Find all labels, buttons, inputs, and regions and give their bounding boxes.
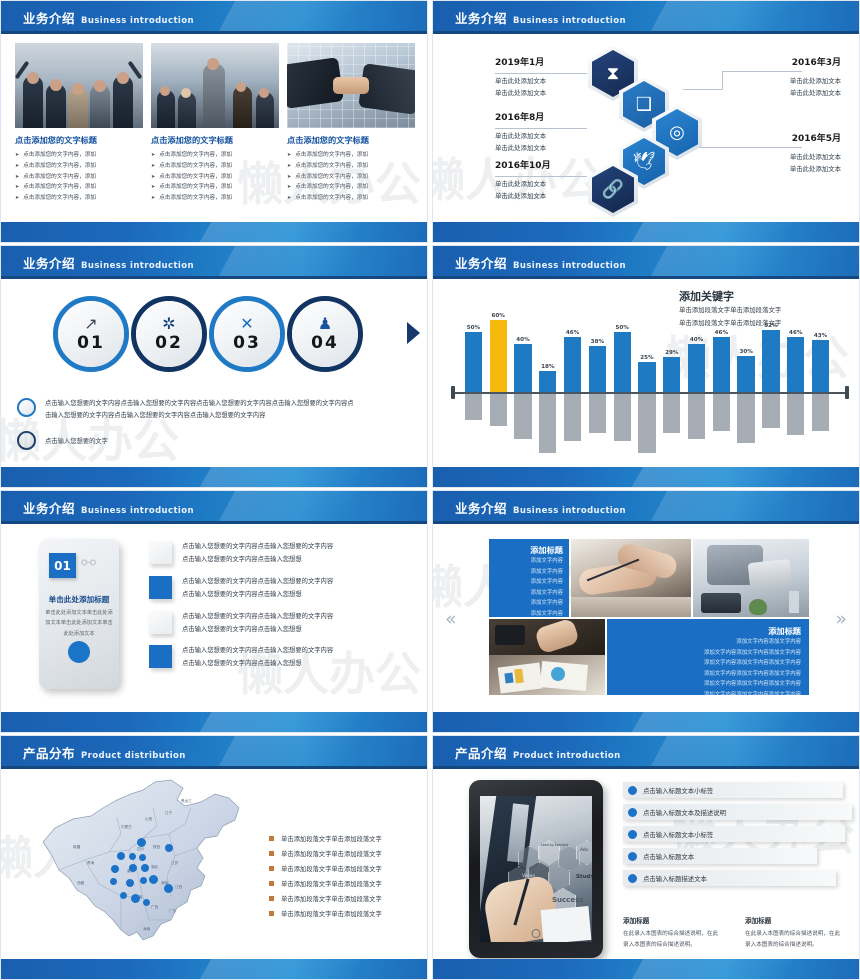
page-title: 业务介绍	[455, 8, 507, 27]
bullet-arrow-icon: ➤	[151, 194, 155, 204]
bar-mirror	[589, 392, 606, 433]
bar-series-container: 50%60%40%18%46%38%50%25%29%40%46%30%52%4…	[461, 308, 833, 461]
bar-positive	[514, 344, 531, 392]
screen-label-adv: Adv	[580, 848, 588, 853]
timeline-entry-left-2[interactable]: 2016年8月 单击此处添加文本 单击此处添加文本	[495, 110, 546, 154]
bar-value-label: 52%	[764, 323, 777, 329]
legend-item: 单击添加段落文字单击添加段落文字	[269, 834, 409, 843]
bar-group[interactable]: 25%	[635, 308, 660, 461]
bullet-arrow-icon: ➤	[151, 162, 155, 172]
page-subtitle: Business introduction	[513, 261, 626, 271]
map-dot	[141, 864, 149, 872]
bullet-text: 点击添加您的文字内容，添加	[159, 162, 232, 172]
svg-text:辽宁: 辽宁	[165, 810, 173, 815]
bar-value-label: 25%	[640, 355, 653, 361]
card-dot[interactable]	[68, 641, 90, 663]
team-celebration-photo	[15, 43, 143, 128]
bar-positive	[539, 371, 556, 393]
map-dot	[165, 844, 173, 852]
photo-column: 点击添加您的文字标题 ➤点击添加您的文字内容，添加 ➤点击添加您的文字内容，添加…	[287, 43, 415, 205]
mosaic-text-box-b[interactable]: 添加标题 添加文字内容添加文字内容 添加文字内容添加文字内容添加文字内容 添加文…	[607, 619, 809, 695]
gear-icon: ✲	[162, 316, 175, 332]
bar-positive	[564, 337, 581, 392]
footer-title: 添加标题	[745, 915, 843, 925]
legend-text: 单击添加段落文字单击添加段落文字	[281, 834, 382, 843]
bar-value-label: 40%	[690, 337, 703, 343]
screen-label-study: Study	[576, 874, 592, 880]
timeline-line: 单击此处添加文本	[495, 142, 546, 154]
bar-mirror	[539, 392, 556, 453]
bar-group[interactable]: 50%	[461, 308, 486, 461]
map-dot	[137, 838, 146, 847]
step-row: ↗ 01 ✲ 02 ✕ 03	[53, 290, 427, 382]
bar-positive	[465, 332, 482, 392]
pill-item[interactable]: 点击输入标题文本小标签	[623, 782, 843, 798]
timeline-date: 2016年5月	[790, 131, 841, 144]
timeline-date: 2019年1月	[495, 55, 546, 68]
bar-group[interactable]: 38%	[585, 308, 610, 461]
tablet-device: Success Study Adv Vision Lead by Example	[469, 780, 603, 958]
footer-column: 添加标题 在此录入本图表的综合描述说明，在此录入本图表的综合描述说明。	[623, 915, 721, 951]
pill-list: 点击输入标题文本小标签 点击输入标题文本及描述说明 点击输入标题文本小标签 点击…	[623, 782, 843, 892]
page-subtitle: Product distribution	[81, 751, 186, 761]
slide-steps: 业务介绍 Business introduction 懒人办公 ↗ 01	[0, 245, 428, 488]
bullet-arrow-icon: ➤	[15, 151, 19, 161]
bar-mirror	[737, 392, 754, 443]
legend-item: 单击添加段落文字单击添加段落文字	[269, 864, 409, 873]
timeline-line: 单击此处添加文本	[790, 75, 841, 87]
timeline-line: 单击此处添加文本	[495, 190, 551, 202]
bar-group[interactable]: 29%	[659, 308, 684, 461]
note-bullet-circle	[17, 431, 36, 450]
slide-card: 业务介绍 Business introduction 懒人办公 01 ⚯ 单击此…	[0, 490, 428, 733]
bullet-arrow-icon: ➤	[287, 194, 291, 204]
timeline-date: 2016年10月	[495, 158, 551, 171]
legend-text: 单击添加段落文字单击添加段落文字	[281, 879, 382, 888]
step-number: 02	[155, 333, 183, 353]
slide-body: 懒人办公 « » 添加标题 添加文字内容 添加文字内容 添加文字内容 添加文字内…	[433, 527, 859, 710]
page-title: 业务介绍	[23, 8, 75, 27]
svg-text:西藏: 西藏	[77, 880, 85, 885]
list-item[interactable]: 点击输入您想要的文字内容点击输入您想要的文字内容 点击输入您想要的文字内容点击输…	[149, 576, 419, 602]
bar-group[interactable]: 40%	[684, 308, 709, 461]
svg-text:山西: 山西	[145, 816, 153, 821]
bar-group[interactable]: 46%	[783, 308, 808, 461]
legend-bullet-icon	[269, 911, 274, 916]
page-subtitle: Business introduction	[81, 506, 194, 516]
china-map-svg: 新疆青海西藏 内蒙古山西辽宁 黑龙江四川陕西 湖北江苏湖南 江西云南广西 广东海…	[25, 772, 275, 960]
bar-mirror	[465, 392, 482, 420]
chart-title: 添加关键字	[679, 288, 845, 304]
list-line: 点击输入您想要的文字内容点击输入您想想	[182, 658, 333, 671]
shuffle-icon: ✕	[240, 316, 253, 332]
bar-value-label: 50%	[467, 325, 480, 331]
bullet-arrow-icon: ➤	[15, 194, 19, 204]
legend-item: 单击添加段落文字单击添加段落文字	[269, 879, 409, 888]
bar-mirror	[663, 392, 680, 433]
photo-column: 点击添加您的文字标题 ➤点击添加您的文字内容，添加 ➤点击添加您的文字内容，添加…	[15, 43, 143, 205]
svg-text:四川: 四川	[137, 847, 145, 851]
network-nodes-icon: ⚯	[81, 555, 107, 579]
bar-mirror	[688, 392, 705, 439]
pill-item[interactable]: 点击输入标题文本及描述说明	[623, 804, 852, 820]
bar-value-label: 43%	[814, 333, 827, 339]
timeline-entry-left-3[interactable]: 2016年10月 单击此处添加文本 单击此处添加文本	[495, 158, 551, 202]
list-line: 点击输入您想要的文字内容点击输入您想要的文字内容	[182, 611, 333, 624]
svg-text:江西: 江西	[175, 884, 183, 889]
bar-positive	[490, 320, 507, 392]
slide-footer	[433, 467, 859, 487]
mosaic-text-box-a[interactable]: 添加标题 添加文字内容 添加文字内容 添加文字内容 添加文字内容 添加文字内容 …	[489, 539, 569, 617]
slide-header: 业务介绍 Business introduction	[433, 246, 859, 279]
step-number: 03	[233, 333, 261, 353]
slide-header: 产品分布 Product distribution	[1, 736, 427, 769]
slide-body: 懒人办公	[1, 772, 427, 957]
bar-value-label: 18%	[541, 364, 554, 370]
tablet-home-button[interactable]	[532, 929, 541, 938]
bullet-text: 点击添加您的文字内容，添加	[295, 162, 368, 172]
map-dot	[131, 894, 140, 903]
slide-footer	[433, 222, 859, 242]
bullet-arrow-icon: ➤	[15, 183, 19, 193]
screen-label-vision: Vision	[522, 874, 535, 879]
legend-text: 单击添加段落文字单击添加段落文字	[281, 864, 382, 873]
map-dot	[164, 884, 173, 893]
svg-text:黑龙江: 黑龙江	[181, 798, 192, 803]
next-chevron-icon[interactable]: »	[835, 608, 847, 630]
footer-desc: 在此录入本图表的综合描述说明，在此录入本图表的综合描述说明。	[623, 929, 721, 951]
prev-chevron-icon[interactable]: «	[445, 608, 457, 630]
slide-header: 业务介绍 Business introduction	[1, 1, 427, 34]
charts-desk-photo	[489, 619, 605, 695]
bullet-arrow-icon: ➤	[287, 173, 291, 183]
pill-text: 点击输入标题描述文本	[643, 874, 707, 883]
bar-value-label: 46%	[566, 330, 579, 336]
step-number: 01	[77, 333, 105, 353]
timeline-line: 单击此处添加文本	[495, 75, 546, 87]
list-line: 点击输入您想要的文字内容点击输入您想要的文字内容	[182, 576, 333, 589]
bar-positive	[688, 344, 705, 392]
box-line: 添加文字内容添加文字内容	[615, 637, 801, 648]
legend-text: 单击添加段落文字单击添加段落文字	[281, 849, 382, 858]
legend-text: 单击添加段落文字单击添加段落文字	[281, 909, 382, 918]
bar-group[interactable]: 46%	[560, 308, 585, 461]
box-line: 添加文字内容添加文字内容添加文字内容	[615, 669, 801, 680]
bullet-text: 点击添加您的文字内容，添加	[295, 173, 368, 183]
bullet-text: 点击添加您的文字内容，添加	[159, 173, 232, 183]
slide-footer	[1, 467, 427, 487]
map-dot	[110, 878, 117, 885]
bar-group[interactable]: 46%	[709, 308, 734, 461]
photo-heading: 点击添加您的文字标题	[151, 134, 279, 146]
bar-mirror	[762, 392, 779, 427]
bar-value-label: 46%	[715, 330, 728, 336]
note-text: 点击输入您想要的文字内容点击输入您想要的文字内容点击输入您想要的文字内容点击输入…	[45, 398, 357, 423]
page-title: 业务介绍	[455, 498, 507, 517]
bullet-arrow-icon: ➤	[287, 162, 291, 172]
bar-positive	[787, 337, 804, 392]
bar-mirror	[787, 392, 804, 435]
china-map[interactable]: 新疆青海西藏 内蒙古山西辽宁 黑龙江四川陕西 湖北江苏湖南 江西云南广西 广东海…	[25, 772, 275, 960]
bullet-arrow-icon: ➤	[151, 151, 155, 161]
map-dot	[129, 853, 136, 860]
bar-positive	[812, 340, 829, 392]
bar-group[interactable]: 30%	[734, 308, 759, 461]
pill-dot-icon	[628, 830, 637, 839]
legend-bullet-icon	[269, 881, 274, 886]
box-title: 添加标题	[495, 544, 563, 556]
svg-text:陕西: 陕西	[153, 844, 161, 849]
legend-item: 单击添加段落文字单击添加段落文字	[269, 849, 409, 858]
bar-mirror	[713, 392, 730, 431]
pill-text: 点击输入标题文本小标签	[643, 830, 713, 839]
slide-header: 业务介绍 Business introduction	[433, 1, 859, 34]
page-title: 产品分布	[23, 743, 75, 762]
list-marker-square	[149, 611, 172, 634]
bar-group[interactable]: 60%	[486, 308, 511, 461]
bar-value-label: 38%	[591, 339, 604, 345]
bullet-text: 点击添加您的文字内容，添加	[23, 183, 96, 193]
square-list: 点击输入您想要的文字内容点击输入您想要的文字内容 点击输入您想要的文字内容点击输…	[149, 541, 419, 680]
page-subtitle: Business introduction	[81, 261, 194, 271]
axis-cap-left	[451, 386, 455, 399]
bullet-arrow-icon: ➤	[151, 173, 155, 183]
bullet-text: 点击添加您的文字内容，添加	[295, 194, 368, 204]
timeline-entry-right-1[interactable]: 2016年3月 单击此处添加文本 单击此处添加文本	[790, 55, 841, 99]
page-subtitle: Product introduction	[513, 751, 621, 761]
bullet-text: 点击添加您的文字内容，添加	[23, 151, 96, 161]
slide-header: 产品介绍 Product introduction	[433, 736, 859, 769]
note-row: 点击输入您想要的文字内容点击输入您想要的文字内容点击输入您想要的文字内容点击输入…	[17, 398, 427, 423]
bullet-text: 点击添加您的文字内容，添加	[23, 173, 96, 183]
bar-mirror	[564, 392, 581, 441]
box-line: 添加文字内容	[495, 567, 563, 578]
step-04[interactable]: ♟ 04	[287, 296, 363, 372]
list-item[interactable]: 点击输入您想要的文字内容点击输入您想要的文字内容 点击输入您想要的文字内容点击输…	[149, 541, 419, 567]
slide-body: 懒人办公 ↗ 01 ✲ 02	[1, 282, 427, 465]
timeline-date: 2016年8月	[495, 110, 546, 123]
bar-chart[interactable]: 50%60%40%18%46%38%50%25%29%40%46%30%52%4…	[451, 308, 849, 461]
legend-bullet-icon	[269, 866, 274, 871]
list-line: 点击输入您想要的文字内容点击输入您想要的文字内容	[182, 541, 333, 554]
pill-dot-icon	[628, 874, 637, 883]
list-item[interactable]: 点击输入您想要的文字内容点击输入您想要的文字内容 点击输入您想要的文字内容点击输…	[149, 611, 419, 637]
bullet-arrow-icon: ➤	[287, 183, 291, 193]
bullet-arrow-icon: ➤	[151, 183, 155, 193]
twitter-bird-icon: 🕊	[633, 153, 656, 171]
tablet-screen: Success Study Adv Vision Lead by Example	[480, 796, 592, 942]
map-dot	[111, 865, 119, 873]
pill-item[interactable]: 点击输入标题文本	[623, 848, 817, 864]
bar-positive	[589, 346, 606, 392]
list-item[interactable]: 点击输入您想要的文字内容点击输入您想要的文字内容 点击输入您想要的文字内容点击输…	[149, 645, 419, 671]
timeline-line: 单击此处添加文本	[790, 151, 841, 163]
footer-columns: 添加标题 在此录入本图表的综合描述说明，在此录入本图表的综合描述说明。 添加标题…	[623, 915, 845, 951]
bar-group[interactable]: 18%	[535, 308, 560, 461]
bar-positive	[614, 332, 631, 392]
svg-text:广东: 广东	[169, 908, 177, 913]
pill-dot-icon	[628, 808, 637, 817]
slide-header: 业务介绍 Business introduction	[1, 246, 427, 279]
screen-label-lead: Lead by Example	[541, 844, 568, 848]
slide-timeline: 业务介绍 Business introduction 懒人办公 2019年1月 …	[432, 0, 860, 243]
bar-mirror	[614, 392, 631, 441]
note-bullet-circle	[17, 398, 36, 417]
pill-text: 点击输入标题文本及描述说明	[643, 808, 726, 817]
svg-text:青海: 青海	[87, 860, 95, 865]
timeline-line: 单击此处添加文本	[790, 163, 841, 175]
slide-body: 懒人办公 点击添加您的文	[1, 37, 427, 220]
pill-text: 点击输入标题文本小标签	[643, 786, 713, 795]
bullet-text: 点击添加您的文字内容，添加	[159, 183, 232, 193]
timeline-line: 单击此处添加文本	[495, 87, 546, 99]
list-marker-square	[149, 645, 172, 668]
mosaic-grid: 添加标题 添加文字内容 添加文字内容 添加文字内容 添加文字内容 添加文字内容 …	[489, 539, 803, 704]
slide-mosaic: 业务介绍 Business introduction 懒人办公 « » 添加标题…	[432, 490, 860, 733]
slide-body: 懒人办公 Success Study	[433, 772, 859, 957]
map-dot	[143, 899, 150, 906]
box-line: 添加文字内容	[495, 577, 563, 588]
timeline-line: 单击此处添加文本	[495, 178, 551, 190]
page-title: 产品介绍	[455, 743, 507, 762]
timeline-entry-right-2[interactable]: 2016年5月 单击此处添加文本 单击此处添加文本	[790, 131, 841, 175]
list-line: 点击输入您想要的文字内容点击输入您想想	[182, 624, 333, 637]
note-row: 点击输入您想要的文字	[17, 431, 427, 450]
person-icon: ♟	[318, 316, 332, 332]
map-legend: 单击添加段落文字单击添加段落文字 单击添加段落文字单击添加段落文字 单击添加段落…	[269, 834, 409, 924]
svg-text:新疆: 新疆	[73, 844, 81, 849]
slide-footer	[1, 222, 427, 242]
page-title: 业务介绍	[23, 498, 75, 517]
bar-positive	[737, 356, 754, 392]
bullet-list: ➤点击添加您的文字内容，添加 ➤点击添加您的文字内容，添加 ➤点击添加您的文字内…	[15, 151, 143, 204]
map-dot	[120, 892, 127, 899]
pill-text: 点击输入标题文本	[643, 852, 694, 861]
pill-dot-icon	[628, 852, 637, 861]
bar-group[interactable]: 50%	[610, 308, 635, 461]
bullet-arrow-icon: ➤	[15, 173, 19, 183]
note-text: 点击输入您想要的文字	[45, 431, 108, 448]
bullet-text: 点击添加您的文字内容，添加	[23, 162, 96, 172]
bar-value-label: 29%	[665, 350, 678, 356]
slide-body: 懒人办公 2019年1月 单击此处添加文本 单击此处添加文本 2016年8月 单…	[433, 37, 859, 220]
bar-value-label: 46%	[789, 330, 802, 336]
list-line: 点击输入您想要的文字内容点击输入您想要的文字内容	[182, 645, 333, 658]
svg-text:广西: 广西	[151, 904, 159, 909]
slide-footer	[1, 712, 427, 732]
slide-footer	[433, 959, 859, 979]
svg-text:内蒙古: 内蒙古	[121, 824, 132, 829]
svg-text:湖北: 湖北	[151, 864, 159, 869]
pill-item[interactable]: 点击输入标题文本小标签	[623, 826, 845, 842]
slide-tablet: 产品介绍 Product introduction 懒人办公	[432, 735, 860, 980]
page-title: 业务介绍	[455, 253, 507, 272]
bar-mirror	[514, 392, 531, 439]
legend-bullet-icon	[269, 851, 274, 856]
timeline-line: 单击此处添加文本	[495, 130, 546, 142]
slide-body: 懒人办公 01 ⚯ 单击此处添加标题 单击此处添加文本单击此处添加文本单击此处添…	[1, 527, 427, 710]
growth-arrow-icon: ↗	[84, 316, 97, 332]
pill-item[interactable]: 点击输入标题描述文本	[623, 870, 836, 886]
list-marker-square	[149, 576, 172, 599]
axis-cap-right	[845, 386, 849, 399]
bar-mirror	[812, 392, 829, 431]
page-subtitle: Business introduction	[81, 16, 194, 26]
map-dot	[126, 879, 134, 887]
timeline-date: 2016年3月	[790, 55, 841, 68]
box-line: 添加文字内容添加文字内容添加文字内容	[615, 679, 801, 690]
footer-desc: 在此录入本图表的综合描述说明，在此录入本图表的综合描述说明。	[745, 929, 843, 951]
chart-axis-line	[455, 392, 845, 394]
slide-chart: 业务介绍 Business introduction 懒人办公 添加关键字 单击…	[432, 245, 860, 488]
bar-group[interactable]: 43%	[808, 308, 833, 461]
bar-mirror	[638, 392, 655, 453]
hex-link[interactable]: 🔗	[592, 166, 634, 213]
photo-heading: 点击添加您的文字标题	[15, 134, 143, 146]
slide-header: 业务介绍 Business introduction	[1, 491, 427, 524]
spiral-icon: ◎	[669, 124, 685, 142]
page-subtitle: Business introduction	[513, 506, 626, 516]
map-dot	[117, 852, 125, 860]
list-marker-square	[149, 541, 172, 564]
bar-positive	[638, 362, 655, 392]
bar-value-label: 50%	[615, 325, 628, 331]
info-card[interactable]: 01 ⚯ 单击此处添加标题 单击此处添加文本单击此处添加文本单击此处添加文本单击…	[39, 539, 119, 689]
hands-pen-photo	[571, 539, 691, 617]
box-line: 添加文字内容添加文字内容添加文字内容	[615, 658, 801, 669]
slide-header: 业务介绍 Business introduction	[433, 491, 859, 524]
box-line: 添加文字内容	[495, 598, 563, 609]
step-02[interactable]: ✲ 02	[131, 296, 207, 372]
page-subtitle: Business introduction	[513, 16, 626, 26]
box-title: 添加标题	[615, 625, 801, 637]
legend-item: 单击添加段落文字单击添加段落文字	[269, 894, 409, 903]
map-dot	[139, 854, 146, 861]
legend-bullet-icon	[269, 836, 274, 841]
timeline-line: 单击此处添加文本	[790, 87, 841, 99]
legend-bullet-icon	[269, 896, 274, 901]
box-line: 添加文字内容	[495, 609, 563, 617]
svg-text:海南: 海南	[143, 926, 151, 931]
box-line: 添加文字内容添加文字内容添加文字内容	[615, 690, 801, 695]
step-01[interactable]: ↗ 01	[53, 296, 129, 372]
bar-group[interactable]: 40%	[511, 308, 536, 461]
slide-map: 产品分布 Product distribution 懒人办公	[0, 735, 428, 980]
applause-meeting-photo	[151, 43, 279, 128]
step-03[interactable]: ✕ 03	[209, 296, 285, 372]
map-dot	[149, 875, 158, 884]
box-line: 添加文字内容	[495, 556, 563, 567]
bar-group[interactable]: 52%	[759, 308, 784, 461]
slide-body: 懒人办公 添加关键字 单击添加段落文字单击添加段落文字 单击添加段落文字单击添加…	[433, 282, 859, 465]
bar-value-label: 30%	[739, 349, 752, 355]
card-badge: 01	[49, 553, 76, 578]
bar-value-label: 40%	[516, 337, 529, 343]
bar-positive	[713, 337, 730, 392]
timeline-entry-left-1[interactable]: 2019年1月 单击此处添加文本 单击此处添加文本	[495, 55, 546, 99]
footer-title: 添加标题	[623, 915, 721, 925]
list-line: 点击输入您想要的文字内容点击输入您想想	[182, 554, 333, 567]
screen-label-success: Success	[552, 896, 583, 904]
legend-text: 单击添加段落文字单击添加段落文字	[281, 894, 382, 903]
card-title: 单击此处添加标题	[39, 594, 119, 605]
bullet-text: 点击添加您的文字内容，添加	[23, 194, 96, 204]
footer-column: 添加标题 在此录入本图表的综合描述说明，在此录入本图表的综合描述说明。	[745, 915, 843, 951]
svg-text:江苏: 江苏	[171, 860, 179, 865]
handshake-photo	[287, 43, 415, 128]
page-title: 业务介绍	[23, 253, 75, 272]
map-dot	[140, 877, 147, 884]
